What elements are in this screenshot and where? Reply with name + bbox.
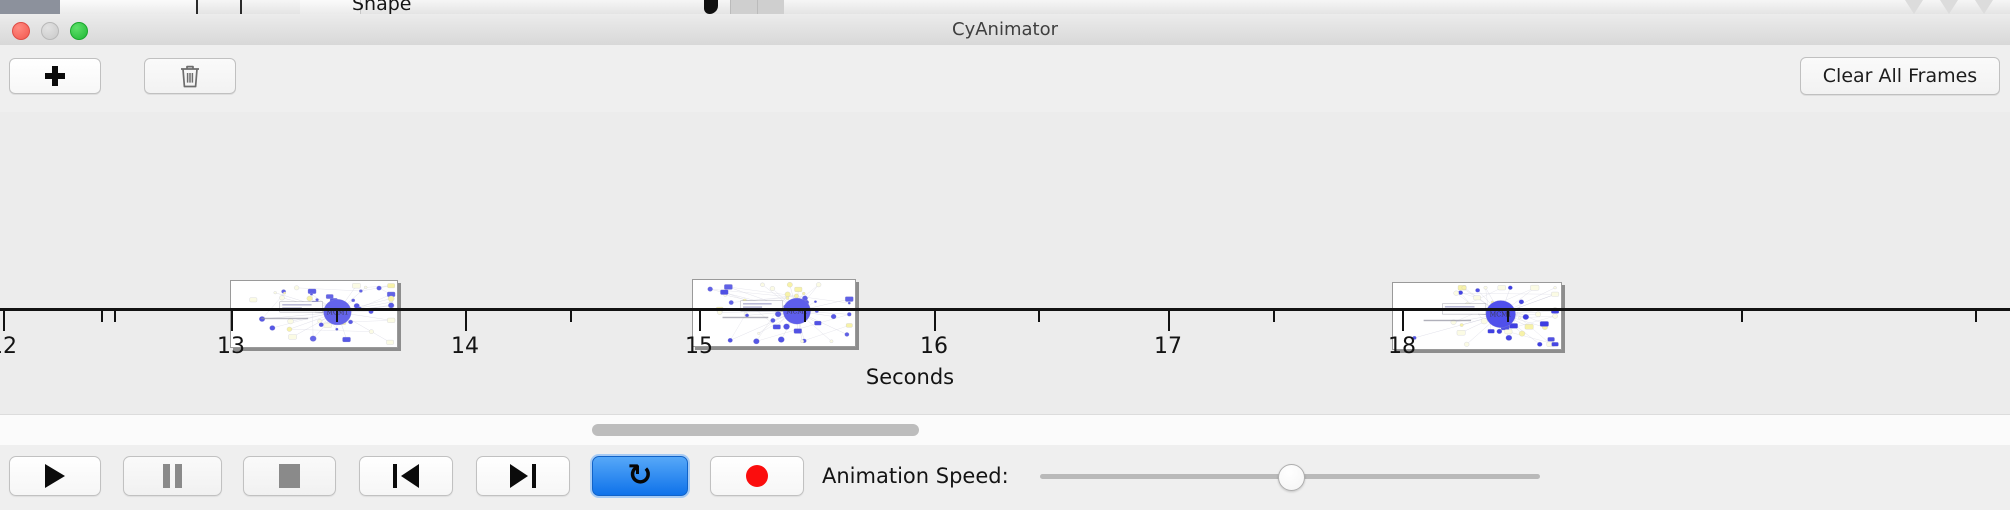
timeline-tick-minor [1741,311,1743,322]
timeline-tick-major [699,311,701,331]
timeline-tick-minor [804,311,806,322]
delete-frame-button[interactable] [144,58,236,94]
background-marker [1940,0,1958,14]
network-thumbnail-graphic: MCM1 [1393,283,1561,349]
frame-thumbnail-1[interactable]: MCM1 [230,280,398,348]
timeline-tick-major [1168,311,1170,331]
background-segment [757,0,784,14]
timeline-tick-major [1402,311,1404,331]
timeline-axis-title: Seconds [0,365,2010,389]
scrollbar-track[interactable] [0,424,2010,436]
frame-toolbar: Clear All Frames [0,45,2010,113]
timeline-tick-label: 14 [451,334,479,359]
frame-thumbnail-3[interactable]: MCM1 [1392,282,1562,350]
timeline-axis-line [0,308,2010,311]
timeline-tick-minor [1975,311,1977,322]
timeline-tick-minor [1273,311,1275,322]
slider-thumb[interactable] [1278,464,1305,491]
timeline-tick-minor [336,311,338,322]
loop-icon: ↻ [627,461,652,491]
animation-speed-label: Animation Speed: [822,456,1009,496]
timeline-tick-label: 17 [1154,334,1182,359]
background-segment [730,0,757,14]
timeline-tick-label: 12 [0,334,17,359]
add-frame-button[interactable] [9,58,101,94]
skip-forward-icon [510,464,536,488]
background-active-tab [0,0,60,14]
skip-back-icon [393,464,419,488]
timeline-tick-minor [101,311,103,322]
background-divider [240,0,242,14]
record-button[interactable] [710,456,804,496]
timeline-tick-major [3,311,5,331]
playback-control-bar: ↻ Animation Speed: [0,445,2010,510]
network-thumbnail-graphic: MCM1 [231,281,397,347]
timeline-tick-minor [1507,311,1509,322]
timeline-scrollbar[interactable] [0,414,2010,446]
play-button[interactable] [9,456,101,496]
scrollbar-thumb[interactable] [592,424,919,436]
timeline-tick-major [934,311,936,331]
plus-icon [45,66,65,86]
timeline-panel[interactable]: MCM1MCM1MCM1 12131415161718 Seconds [0,112,2010,414]
network-thumbnail-graphic: MCM1 [693,280,855,346]
timeline-tick-label: 13 [217,334,245,359]
record-icon [746,465,768,487]
clear-all-frames-button[interactable]: Clear All Frames [1800,57,2000,95]
window-title: CyAnimator [0,14,2010,45]
animation-speed-slider[interactable] [1040,456,1540,496]
background-segment [140,0,197,14]
timeline-tick-label: 18 [1388,334,1416,359]
play-icon [45,464,65,488]
frame-thumbnail-2[interactable]: MCM1 [692,279,856,347]
timeline-tick-major [231,311,233,331]
background-divider [196,0,198,14]
background-marker [1975,0,1993,14]
timeline-tick-major [465,311,467,331]
clear-all-frames-label: Clear All Frames [1823,65,1977,87]
stop-button[interactable] [243,456,336,496]
background-marker [1905,0,1923,14]
title-bar: CyAnimator [0,14,2010,46]
background-shape-label: Shape [352,0,412,15]
skip-to-start-button[interactable] [359,456,453,496]
pause-button[interactable] [123,456,222,496]
loop-button[interactable]: ↻ [592,456,688,496]
pause-icon [163,464,182,488]
timeline-tick-minor [1038,311,1040,322]
timeline-tick-minor [114,311,116,322]
timeline-tick-minor [570,311,572,322]
stop-icon [279,464,300,488]
timeline-tick-label: 16 [920,334,948,359]
background-segment [60,0,141,14]
trash-icon [179,64,201,89]
timeline-tick-label: 15 [685,334,713,359]
cyanimator-window: Shape CyAnimator Clear All Frames [0,0,2010,510]
skip-to-end-button[interactable] [476,456,570,496]
background-window-sliver: Shape [0,0,2010,15]
